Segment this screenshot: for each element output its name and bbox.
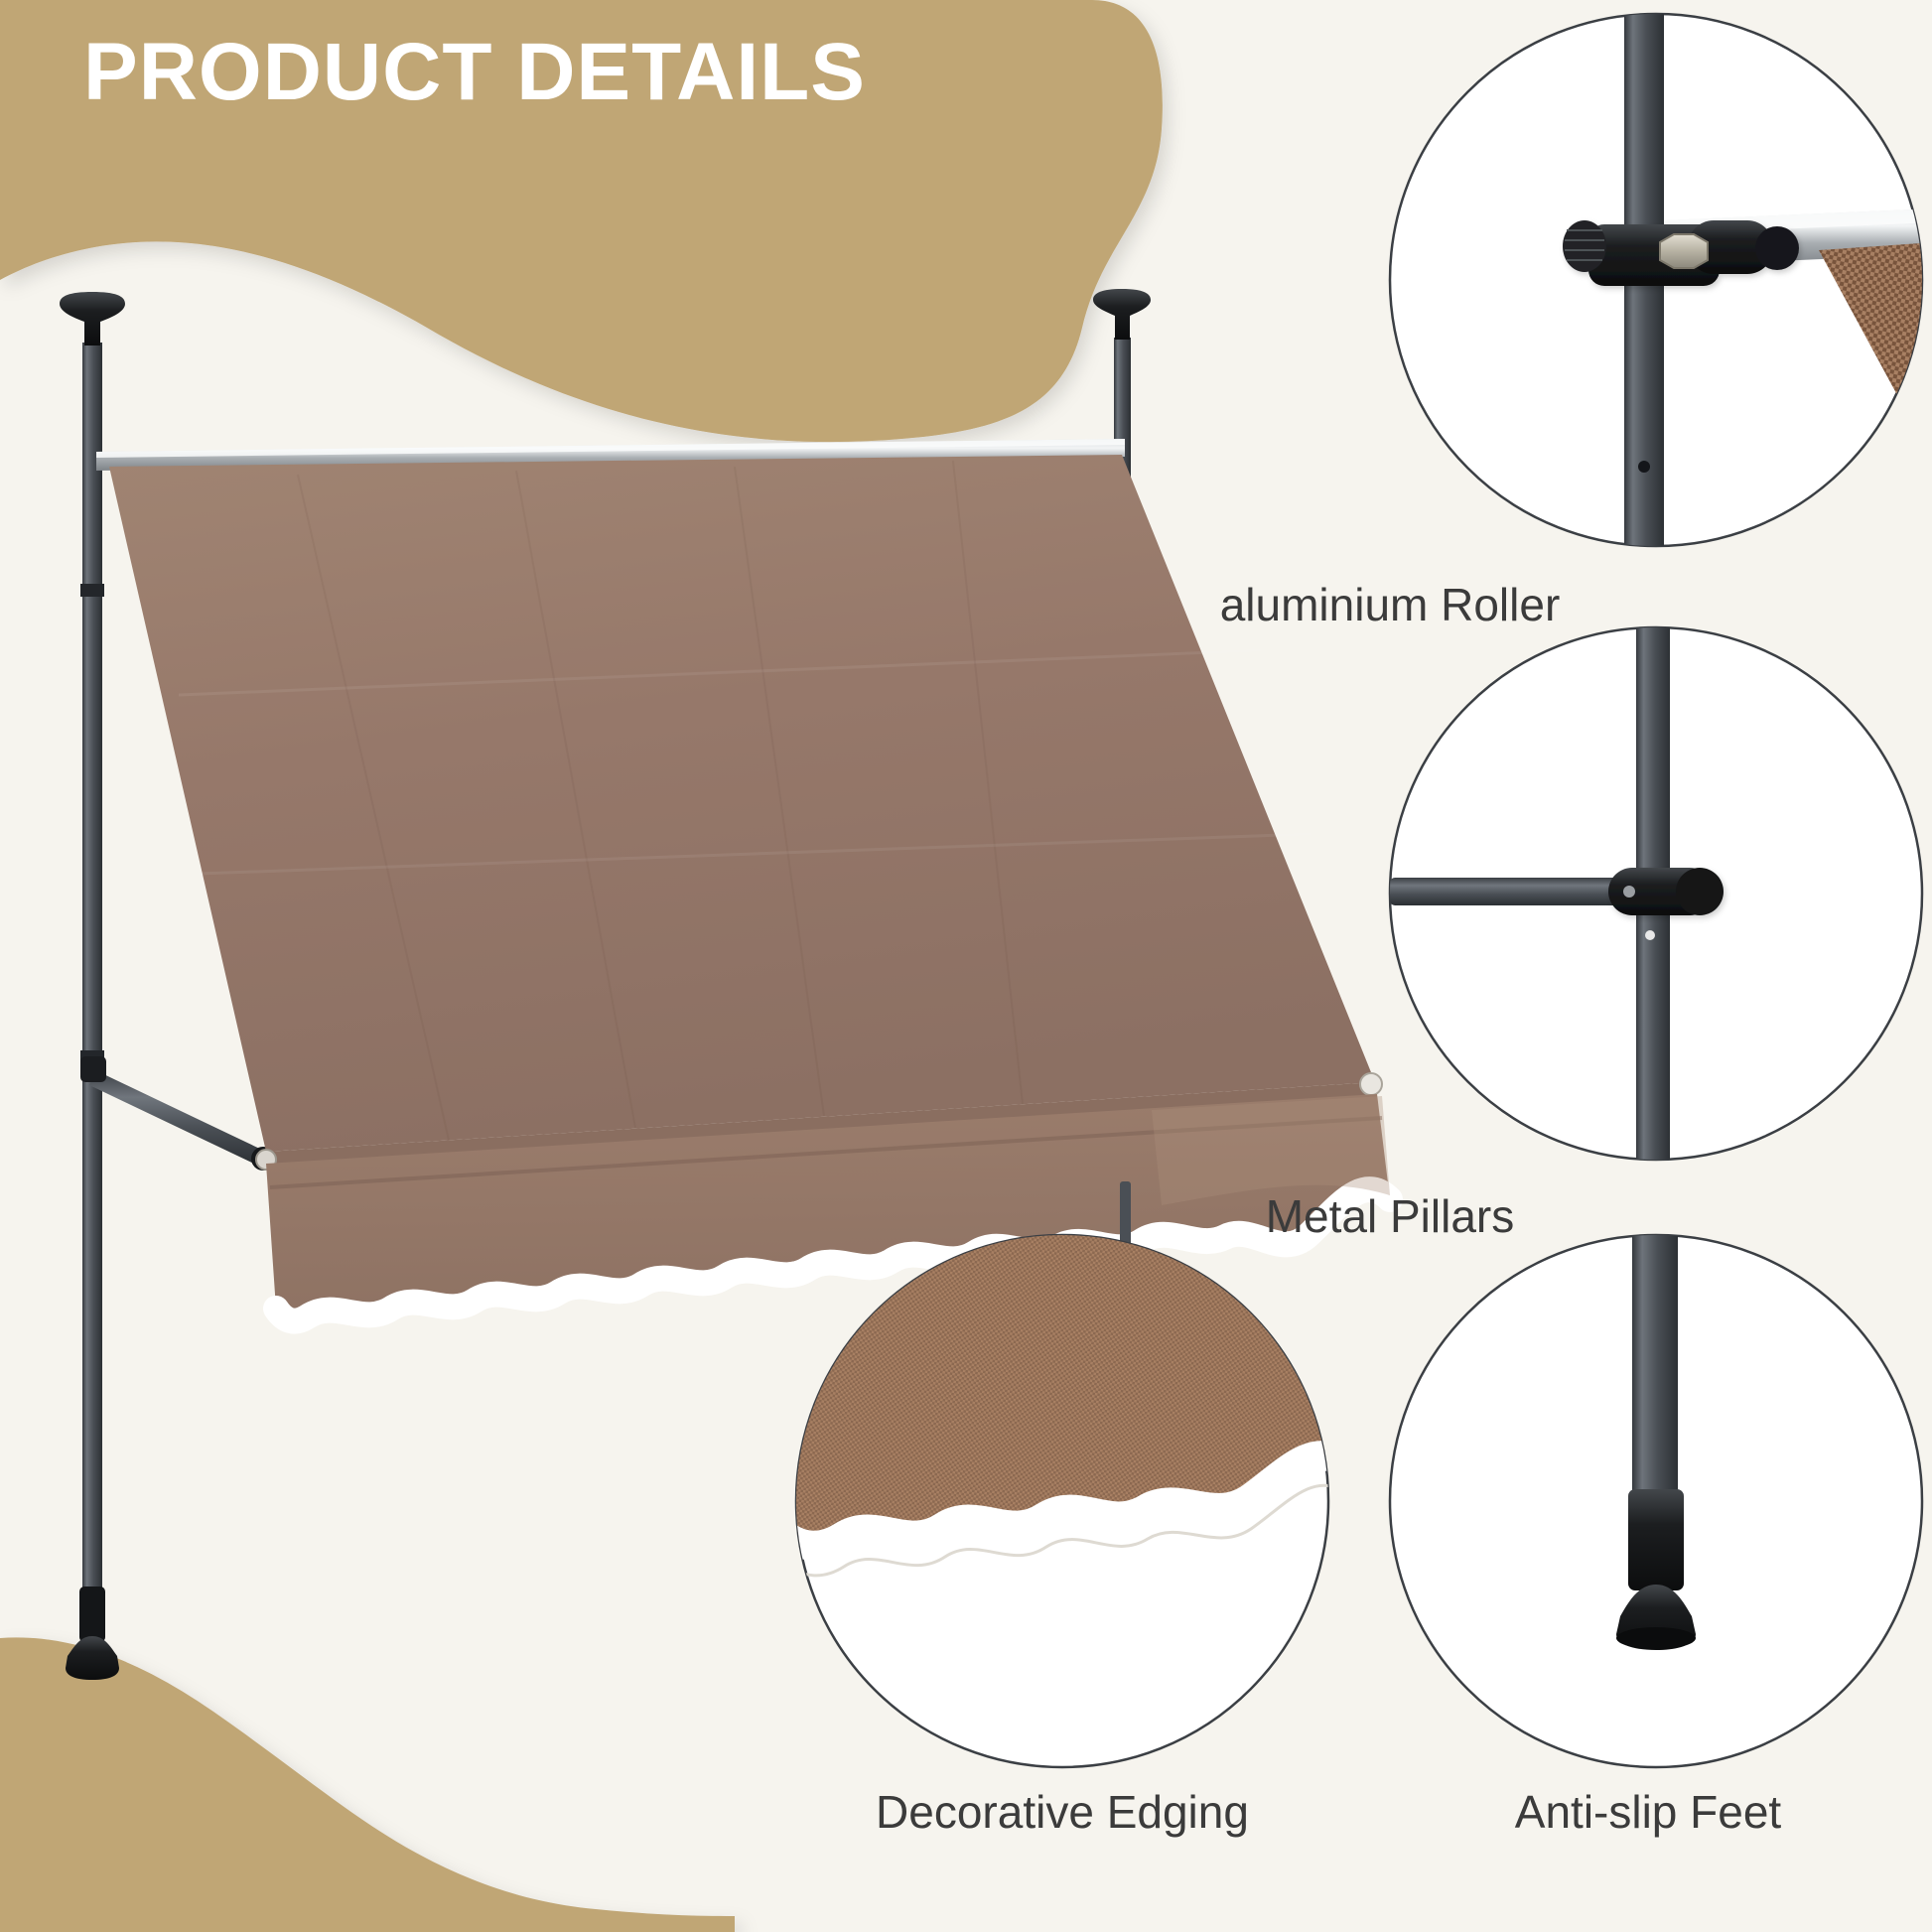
- detail-circle-metal-pillars[interactable]: [1390, 627, 1922, 1160]
- product-details-illustration: [0, 0, 1932, 1932]
- detail-label-anti-slip-feet: Anti-slip Feet: [1370, 1787, 1926, 1838]
- infographic-canvas: PRODUCT DETAILS aluminium Roller Metal P…: [0, 0, 1932, 1932]
- detail-circle-anti-slip-feet[interactable]: [1390, 1235, 1922, 1767]
- detail-label-decorative-edging: Decorative Edging: [784, 1787, 1340, 1838]
- detail-label-metal-pillars: Metal Pillars: [1112, 1191, 1668, 1242]
- page-title: PRODUCT DETAILS: [83, 32, 866, 113]
- detail-label-aluminium-roller: aluminium Roller: [1112, 580, 1668, 630]
